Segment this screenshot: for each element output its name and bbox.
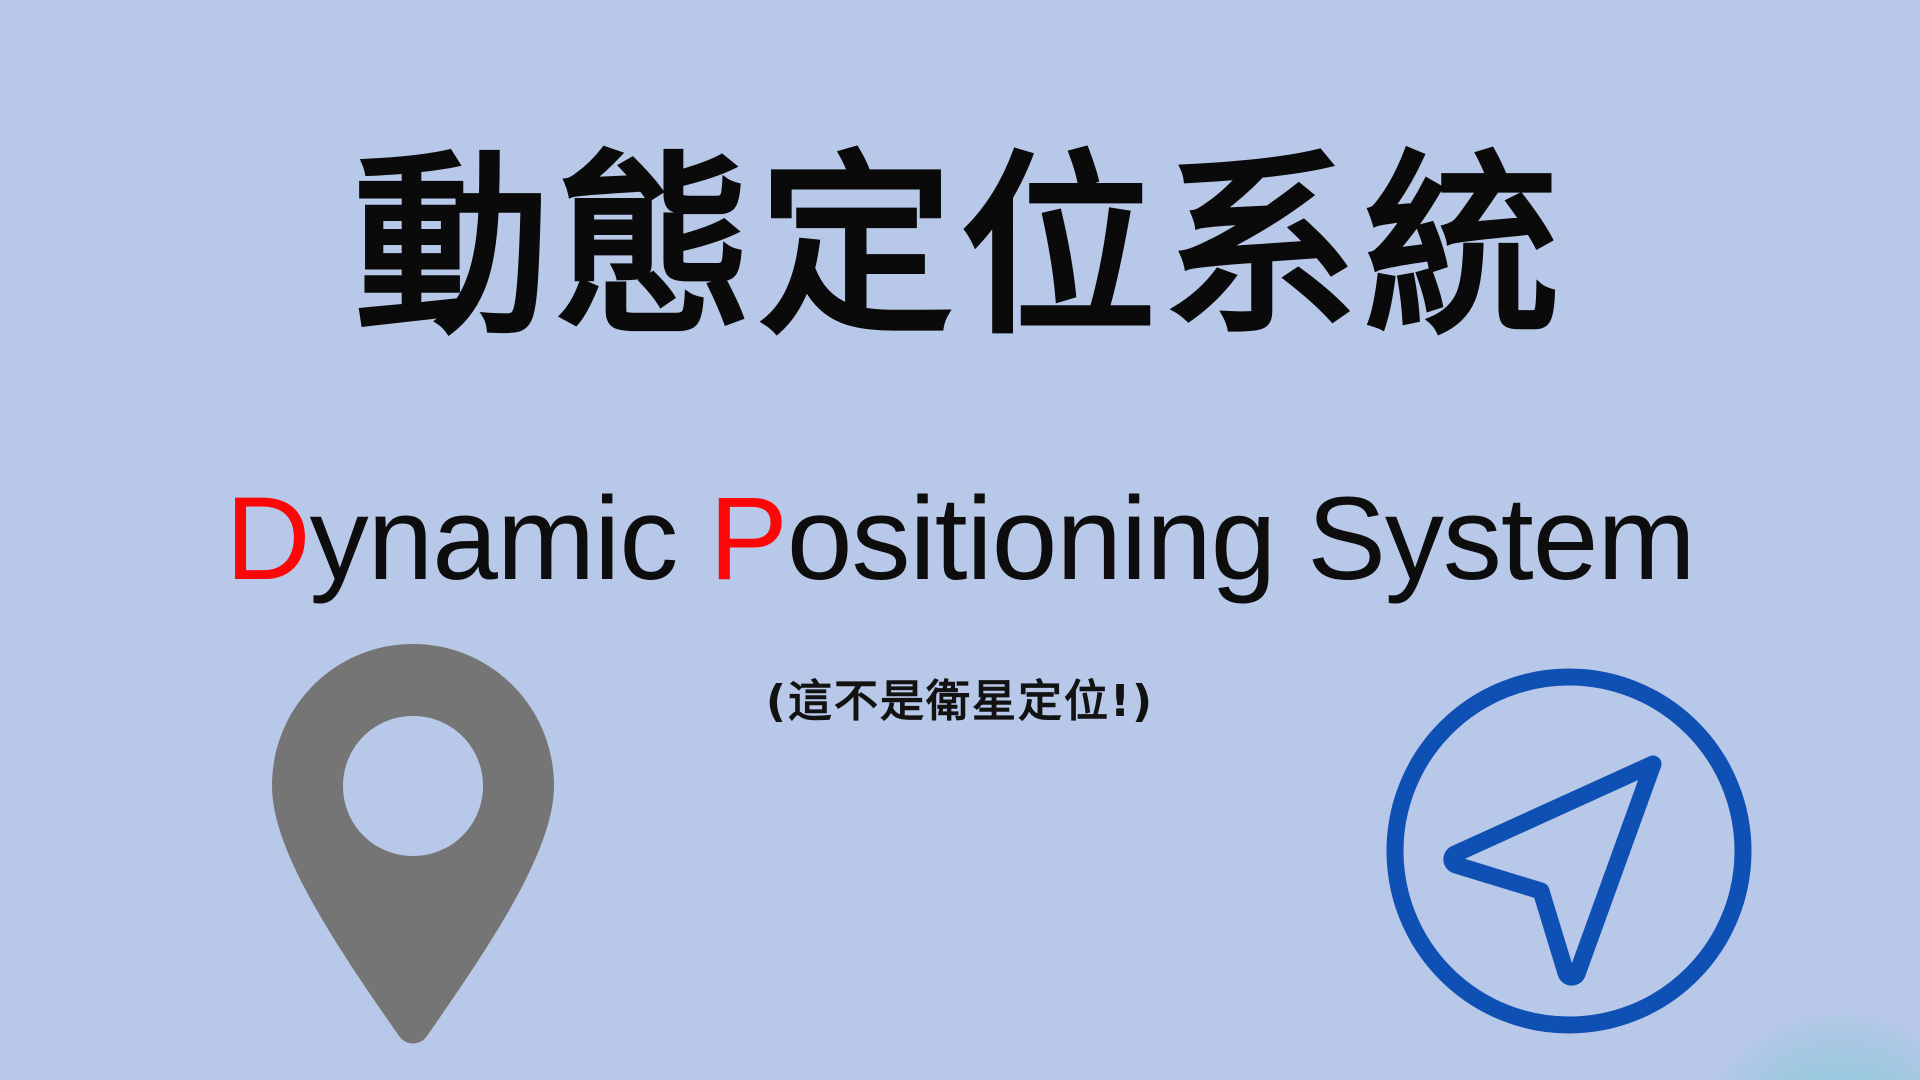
subtitle-word-dynamic-rest: ynamic [310,473,710,605]
subtitle-accent-letter-d: D [225,473,309,605]
subtitle-accent-letter-p: P [709,473,787,605]
map-pin-icon [268,640,558,1050]
page-title: 動態定位系統 [0,150,1920,346]
navigation-arrow-icon [1378,660,1760,1042]
slide-canvas: 動態定位系統 Dynamic Positioning System (這不是衛星… [0,0,1920,1080]
subtitle-word-positioning-system-rest: ositioning System [787,473,1695,605]
subtitle-english: Dynamic Positioning System [0,480,1920,598]
